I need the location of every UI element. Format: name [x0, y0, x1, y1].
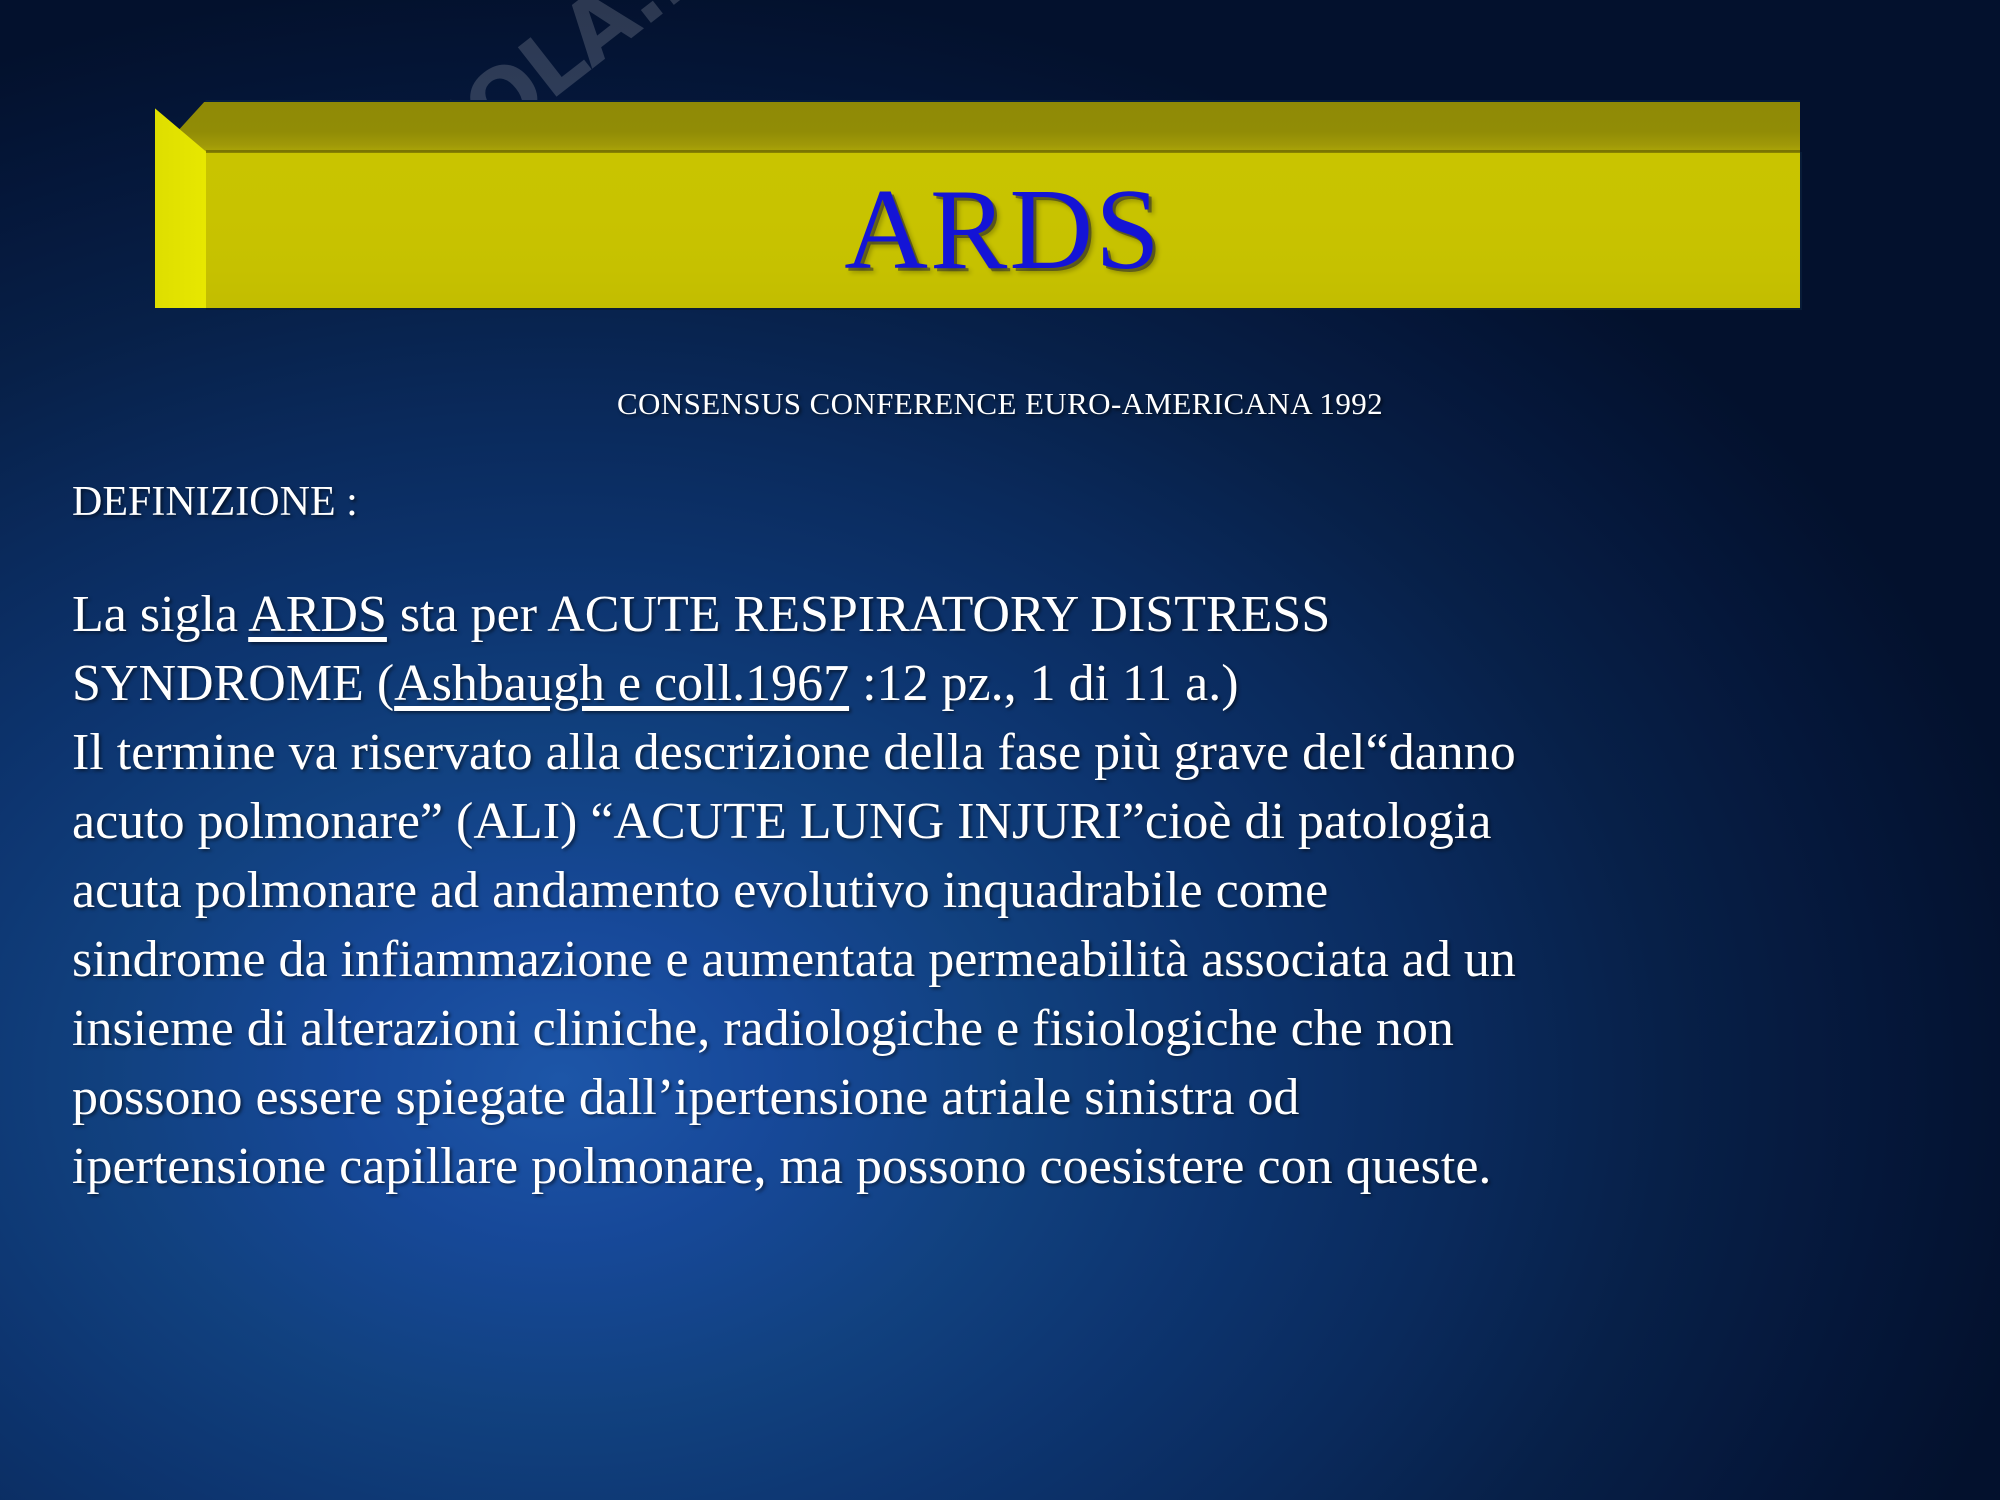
definition-body: La sigla ARDS sta per ACUTE RESPIRATORY …	[72, 580, 1972, 1201]
title-banner: ARDS	[155, 100, 1800, 308]
definition-line-1-tail: sta per ACUTE RESPIRATORY DISTRESS	[387, 586, 1330, 643]
definition-line-3: Il termine va riservato alla descrizione…	[72, 718, 1972, 787]
definition-line-7: insieme di alterazioni cliniche, radiolo…	[72, 994, 1972, 1063]
definition-line-2-citation: Ashbaugh e coll.1967	[394, 655, 849, 712]
definition-line-6: sindrome da infiammazione e aumentata pe…	[72, 925, 1972, 994]
definition-line-1-lead: La sigla	[72, 586, 248, 643]
slide-canvas: SKUOLA.net il portale dello studente ARD…	[0, 0, 2000, 1500]
definition-line-5: acuta polmonare ad andamento evolutivo i…	[72, 856, 1972, 925]
definition-line-8: possono essere spiegate dall’ipertension…	[72, 1063, 1972, 1132]
banner-top-bevel	[155, 100, 1800, 156]
definition-line-4: acuto polmonare” (ALI) “ACUTE LUNG INJUR…	[72, 787, 1972, 856]
definition-line-2: SYNDROME (Ashbaugh e coll.1967 :12 pz., …	[72, 649, 1972, 718]
slide-title: ARDS	[206, 152, 1800, 308]
definition-line-2-lead: SYNDROME (	[72, 655, 394, 712]
definition-line-1-acronym: ARDS	[248, 586, 387, 643]
definition-label: DEFINIZIONE :	[72, 478, 358, 526]
definition-line-2-tail: :12 pz., 1 di 11 a.)	[849, 655, 1238, 712]
definition-line-9: ipertensione capillare polmonare, ma pos…	[72, 1132, 1972, 1201]
definition-line-1: La sigla ARDS sta per ACUTE RESPIRATORY …	[72, 580, 1972, 649]
slide-subtitle: CONSENSUS CONFERENCE EURO-AMERICANA 1992	[0, 386, 2000, 422]
